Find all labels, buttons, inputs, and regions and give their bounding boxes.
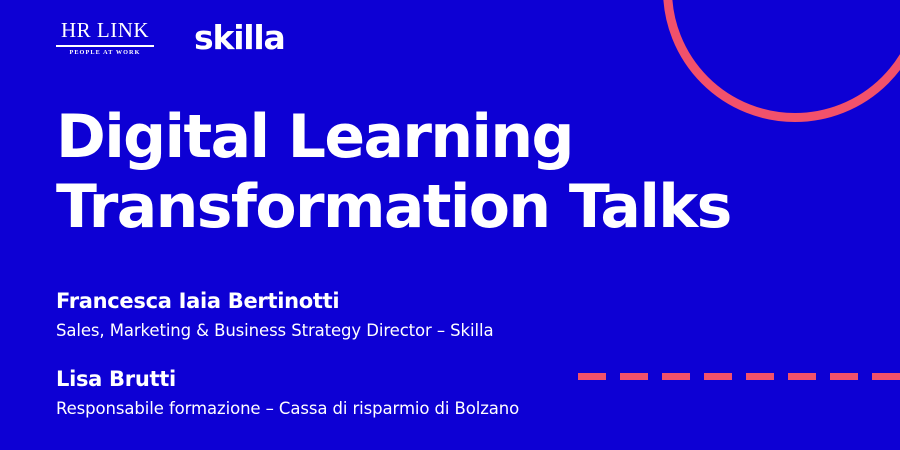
dash-segment (746, 373, 774, 380)
dash-segment (872, 373, 900, 380)
speaker-item: Francesca Iaia Bertinotti Sales, Marketi… (56, 288, 676, 342)
skilla-logo: skilla (194, 21, 285, 54)
title-line-2: Transformation Talks (56, 172, 816, 242)
speaker-name: Lisa Brutti (56, 366, 676, 392)
hrlink-wordmark: HR LINK (61, 20, 149, 41)
hrlink-logo: HR LINK PEOPLE AT WORK (56, 18, 154, 56)
page-title: Digital Learning Transformation Talks (56, 102, 816, 242)
speaker-name: Francesca Iaia Bertinotti (56, 288, 676, 314)
dash-segment (788, 373, 816, 380)
hrlink-divider (56, 45, 154, 47)
hrlink-tagline: PEOPLE AT WORK (69, 50, 140, 56)
speaker-role: Responsabile formazione – Cassa di rispa… (56, 398, 676, 419)
dash-segment (830, 373, 858, 380)
speaker-role: Sales, Marketing & Business Strategy Dir… (56, 320, 676, 341)
title-line-1: Digital Learning (56, 102, 816, 172)
presentation-slide: HR LINK PEOPLE AT WORK skilla Digital Le… (0, 0, 900, 450)
speaker-item: Lisa Brutti Responsabile formazione – Ca… (56, 366, 676, 420)
speaker-list: Francesca Iaia Bertinotti Sales, Marketi… (56, 288, 676, 419)
logo-bar: HR LINK PEOPLE AT WORK skilla (56, 18, 285, 56)
dash-segment (704, 373, 732, 380)
